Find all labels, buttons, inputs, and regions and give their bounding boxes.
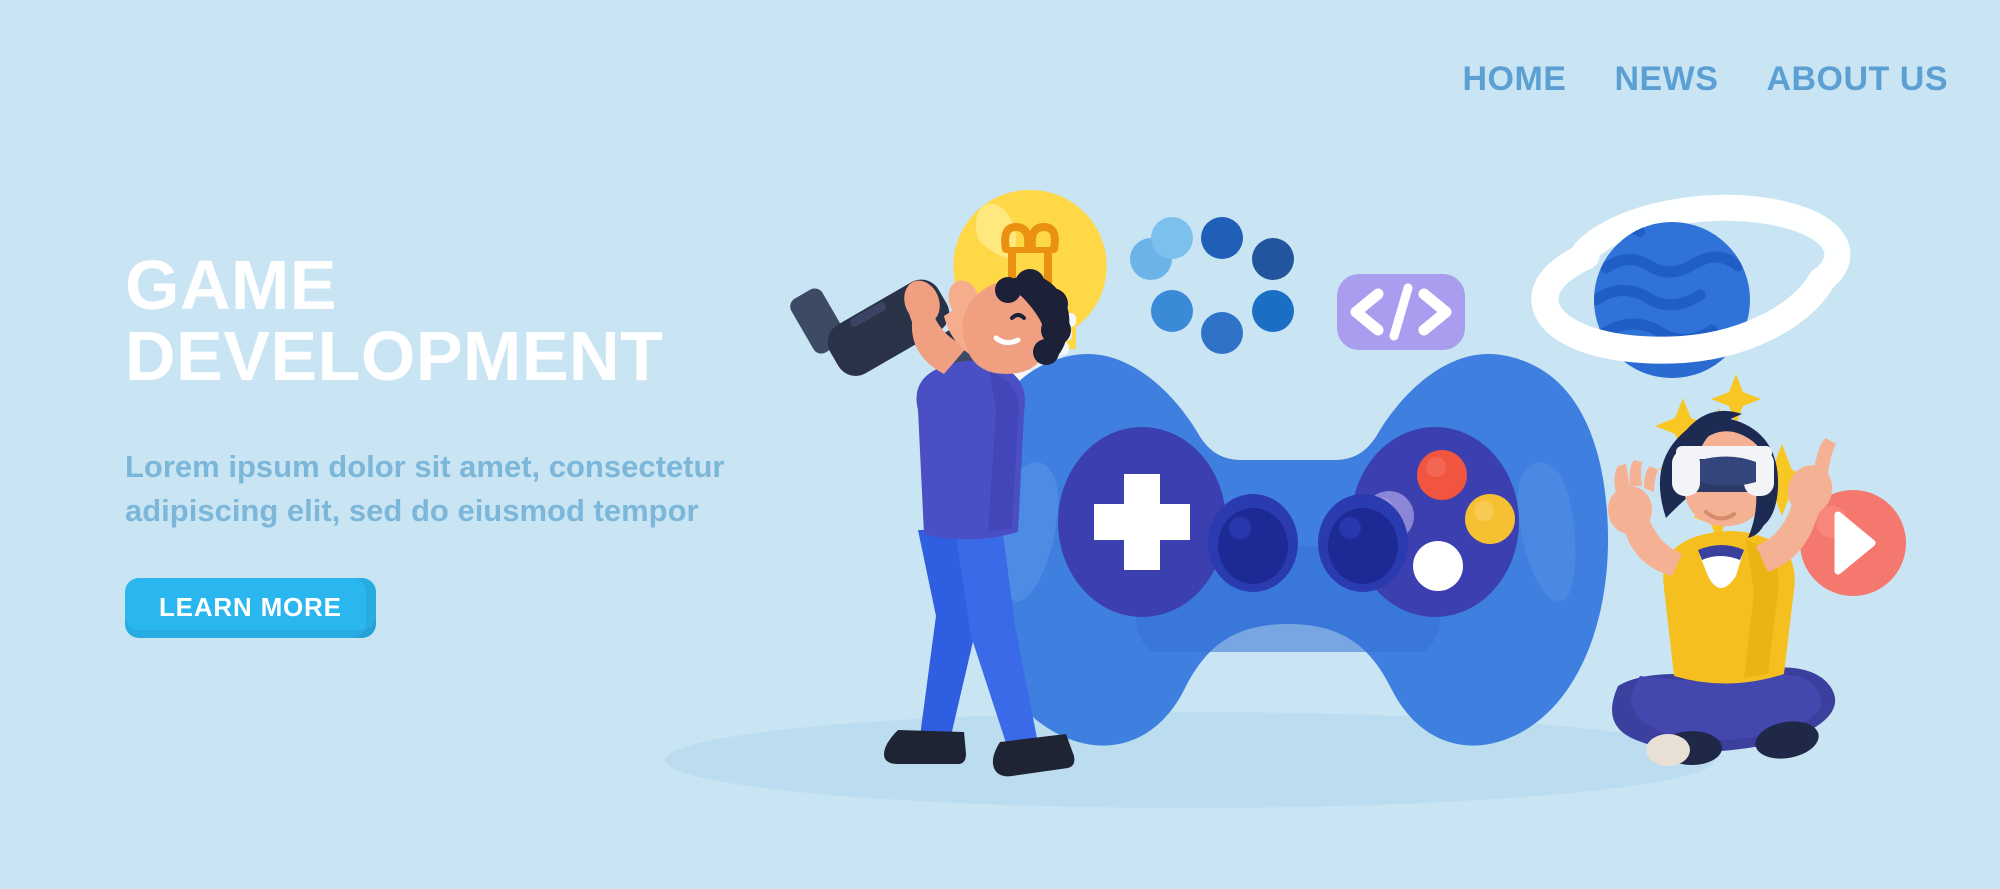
button-white <box>1413 541 1463 591</box>
loading-spinner-icon <box>1130 217 1294 354</box>
ground-shadow <box>665 712 1715 808</box>
game-controller <box>968 354 1608 746</box>
learn-more-button[interactable]: LEARN MORE <box>125 578 376 638</box>
person-with-vr-headset <box>1608 411 1838 766</box>
hero-copy: GAME DEVELOPMENT Lorem ipsum dolor sit a… <box>125 250 825 638</box>
thumbstick-left <box>1208 494 1298 592</box>
nav-link-about-us[interactable]: ABOUT US <box>1766 60 1948 99</box>
nav-link-news[interactable]: NEWS <box>1614 60 1718 99</box>
headline-line-1: GAME <box>125 246 337 324</box>
planet-icon <box>1545 208 1838 420</box>
thumbstick-right <box>1318 494 1408 592</box>
code-tag-icon <box>1337 274 1465 350</box>
main-navigation: HOME NEWS ABOUT US <box>1462 60 1948 99</box>
page-title: GAME DEVELOPMENT <box>125 250 825 393</box>
hero-description: Lorem ipsum dolor sit amet, consectetur … <box>125 445 765 533</box>
headline-line-2: DEVELOPMENT <box>125 321 825 392</box>
nav-link-home[interactable]: HOME <box>1462 60 1566 99</box>
hero-banner: HOME NEWS ABOUT US GAME DEVELOPMENT Lore… <box>0 0 2000 889</box>
